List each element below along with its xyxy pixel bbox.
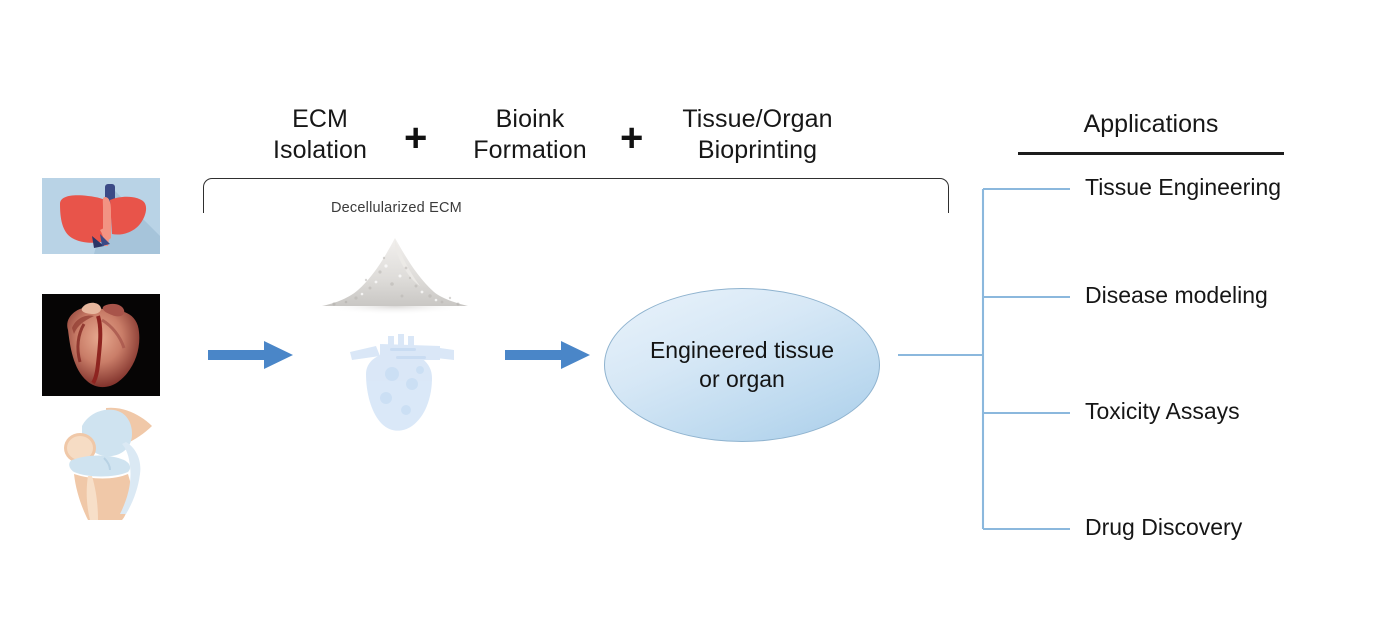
source-image-knee [48, 404, 170, 520]
bioprinted-heart-image [336, 326, 462, 436]
step-line-1: Tissue/Organ [665, 104, 850, 135]
figure-canvas: ECM Isolation + Bioink Formation + Tissu… [0, 0, 1373, 639]
applications-underline [1018, 152, 1284, 155]
applications-connector-tree [890, 180, 1080, 540]
decellularized-ecm-caption: Decellularized ECM [331, 200, 462, 216]
process-step-ecm-isolation: ECM Isolation [240, 104, 400, 165]
arrow-sources-to-ecm [208, 337, 293, 373]
applications-title: Applications [1018, 110, 1284, 139]
step-line-2: Bioprinting [665, 135, 850, 166]
process-step-bioink-formation: Bioink Formation [450, 104, 610, 165]
application-item-disease-modeling[interactable]: Disease modeling [1085, 282, 1268, 309]
step-line-2: Isolation [240, 135, 400, 166]
step-line-2: Formation [450, 135, 610, 166]
engineered-tissue-label: Engineered tissue or organ [650, 336, 834, 395]
process-step-tissue-organ-bioprinting: Tissue/Organ Bioprinting [665, 104, 850, 165]
step-line-1: ECM [240, 104, 400, 135]
application-item-drug-discovery[interactable]: Drug Discovery [1085, 514, 1242, 541]
engineered-tissue-line-2: or organ [650, 365, 834, 394]
application-item-tissue-engineering[interactable]: Tissue Engineering [1085, 174, 1281, 201]
source-image-liver [42, 178, 160, 254]
plus-separator-1: + [404, 118, 427, 158]
arrow-bioink-to-output [505, 337, 590, 373]
engineered-tissue-ellipse: Engineered tissue or organ [604, 288, 880, 442]
ecm-powder-image [310, 228, 480, 318]
engineered-tissue-line-1: Engineered tissue [650, 336, 834, 365]
plus-separator-2: + [620, 118, 643, 158]
process-bracket [203, 178, 949, 213]
application-item-toxicity-assays[interactable]: Toxicity Assays [1085, 398, 1240, 425]
source-image-heart [42, 294, 160, 396]
step-line-1: Bioink [450, 104, 610, 135]
